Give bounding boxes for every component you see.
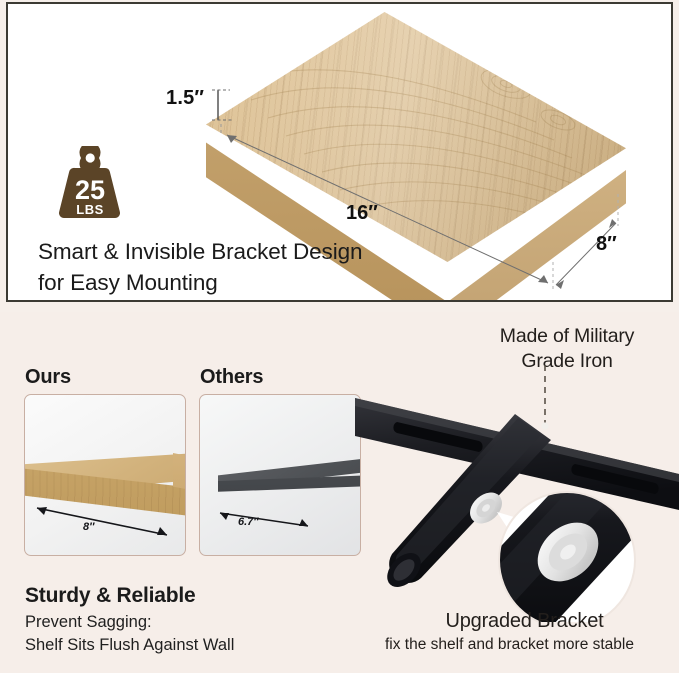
screw-hole xyxy=(541,422,548,429)
others-dimension-arrow xyxy=(200,395,361,556)
product-dimensions-panel: 1.5″ 16″ 8″ 25 LBS Smart & Invisible Bra… xyxy=(6,2,673,302)
weight-unit-text: LBS xyxy=(76,202,104,217)
dimension-thickness-label: 1.5″ xyxy=(166,87,204,110)
comparison-label-others: Others xyxy=(200,366,263,389)
weight-capacity-badge: 25 LBS xyxy=(54,146,126,224)
sturdy-heading: Sturdy & Reliable xyxy=(25,584,195,608)
ours-dimension-label: 8″ xyxy=(83,521,94,533)
comparison-card-others: 6.7″ xyxy=(199,394,361,556)
weight-value-text: 25 xyxy=(75,175,105,205)
dimension-depth-label: 8″ xyxy=(596,233,617,256)
comparison-card-ours: 8″ xyxy=(24,394,186,556)
page-title: Smart & Invisible Bracket Design for Eas… xyxy=(38,236,458,298)
bracket-illustration xyxy=(355,362,679,622)
ours-dimension-arrow xyxy=(25,395,186,556)
others-dimension-label: 6.7″ xyxy=(238,516,259,528)
features-section: Ours Others 8″ 6.7″ Sturdy & Reliable Pr… xyxy=(0,312,679,673)
comparison-label-ours: Ours xyxy=(25,366,71,389)
sturdy-subtext: Prevent Sagging: Shelf Sits Flush Agains… xyxy=(25,611,234,656)
dimension-length-label: 16″ xyxy=(346,202,378,225)
upgraded-bracket-subtext: fix the shelf and bracket more stable xyxy=(340,636,679,654)
upgraded-bracket-heading: Upgraded Bracket xyxy=(370,610,679,633)
